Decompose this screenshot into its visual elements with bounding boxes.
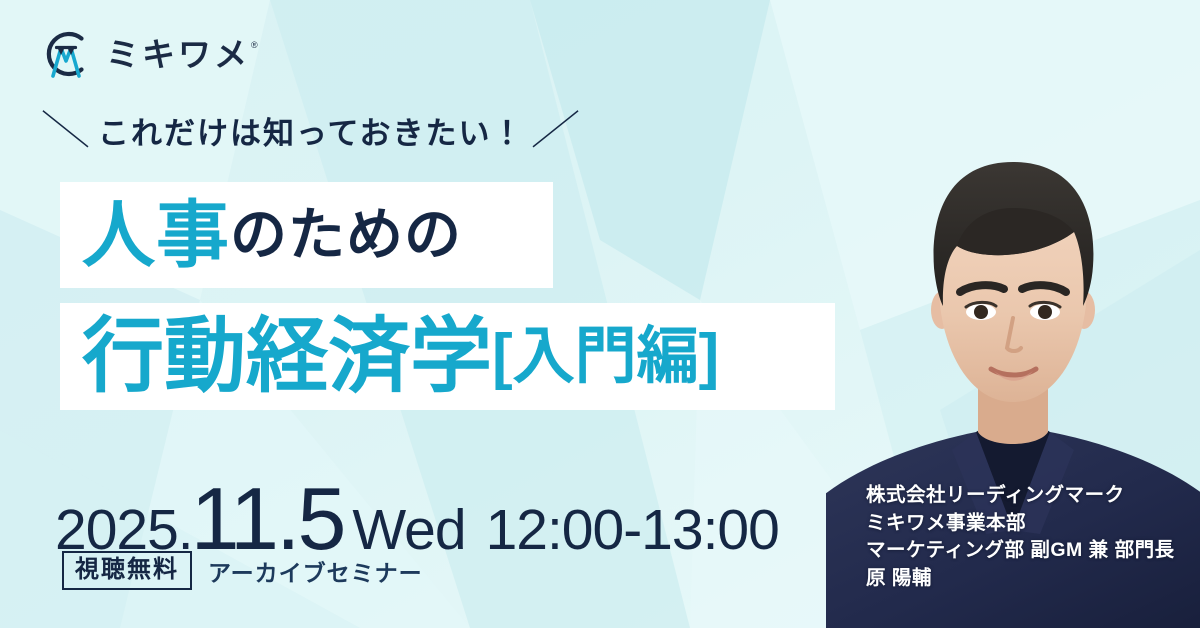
brand-name: ミキワメ [106, 38, 250, 71]
tagline: ＼ これだけは知っておきたい！ ／ [46, 108, 577, 153]
title-line-1-rest: のための [230, 207, 462, 264]
tagline-text: これだけは知っておきたい！ [98, 108, 525, 153]
title-line-1: 人事 のための [60, 182, 553, 288]
brand-logo: ミキワメ ® [40, 28, 258, 80]
speaker-info: 株式会社リーディングマーク ミキワメ事業本部 マーケティング部 副GM 兼 部門… [866, 482, 1175, 593]
speaker-division: ミキワメ事業本部 [866, 510, 1175, 538]
tagline-left-slash-icon: ＼ [41, 111, 93, 151]
speaker-name: 原 陽輔 [866, 565, 1175, 593]
title-accent: 人事 [82, 199, 230, 272]
mikiwame-logo-icon [40, 28, 92, 80]
title-line-2: 行動経済学 [入門編] [60, 303, 835, 410]
speaker-company: 株式会社リーディングマーク [866, 482, 1175, 510]
seminar-type-label: アーカイブセミナー [208, 554, 423, 588]
price-badge: 視聴無料 [62, 551, 192, 590]
title-bracket: [入門編] [492, 326, 719, 388]
schedule-time: 12:00-13:00 [486, 497, 779, 563]
trademark-symbol: ® [251, 40, 258, 50]
webinar-banner: ミキワメ ® ＼ これだけは知っておきたい！ ／ 人事 のための 行動経済学 [… [0, 0, 1200, 628]
speaker-title: マーケティング部 副GM 兼 部門長 [866, 537, 1175, 565]
badge-row: 視聴無料 アーカイブセミナー [62, 551, 423, 590]
tagline-right-slash-icon: ／ [530, 111, 582, 151]
title-main: 行動経済学 [82, 316, 492, 398]
